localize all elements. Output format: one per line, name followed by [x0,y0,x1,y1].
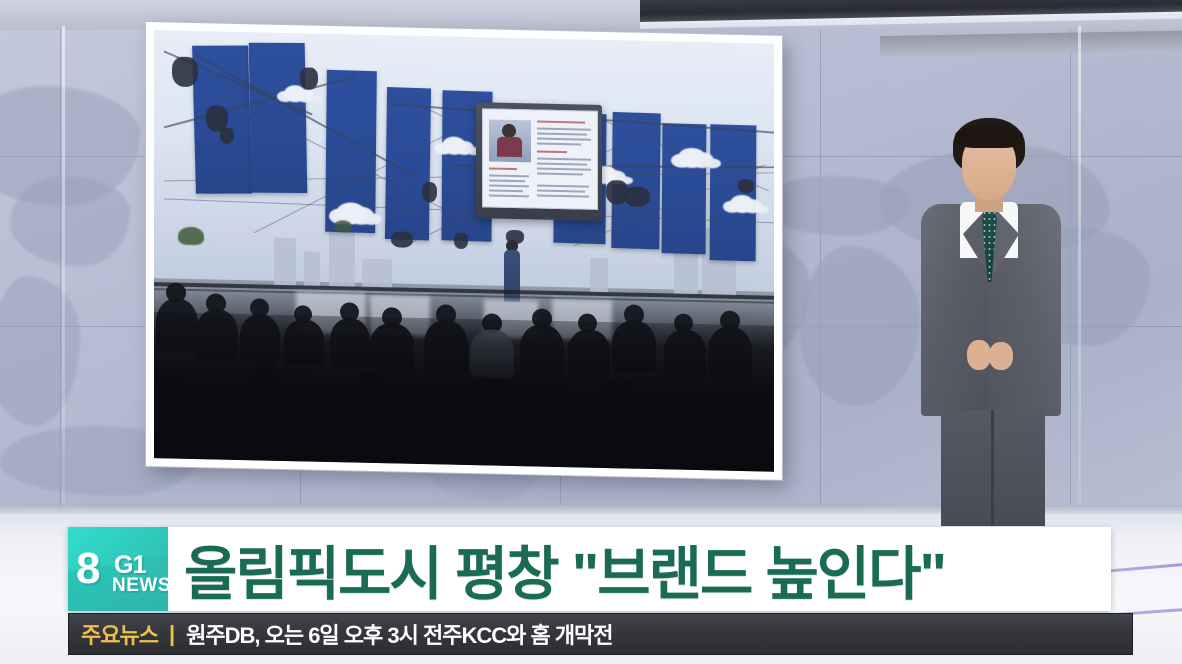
anchor-hand-left [967,340,991,370]
presentation-display [476,102,602,221]
ticker-separator: | [158,621,186,647]
news-anchor [905,118,1075,518]
headline-lower-third: 8 G1 NEWS 올림픽도시 평창 "브랜드 높인다" [68,527,1111,611]
presentation-slide [482,108,598,210]
channel-logo[interactable]: 8 G1 NEWS [68,527,168,611]
logo-number: 8 [76,547,99,591]
wall-column [1078,26,1081,506]
anchor-trouser-seam [991,410,994,526]
broadcast-frame: 8 G1 NEWS 올림픽도시 평창 "브랜드 높인다" 주요뉴스 | 원주DB… [0,0,1182,664]
ticker-headline-text: 원주DB, 오는 6일 오후 3시 전주KCC와 홈 개막전 [186,618,612,650]
ticker-category-label: 주요뉴스 [69,618,158,650]
anchor-hand-right [989,342,1013,370]
anchor-hair-fringe [955,124,1023,148]
slide-photo [489,119,531,162]
audience-foreground [154,313,774,472]
video-wall-content [154,30,774,472]
wall-column [62,26,65,506]
video-wall-screen [146,22,782,480]
news-ticker[interactable]: 주요뉴스 | 원주DB, 오는 6일 오후 3시 전주KCC와 홈 개막전 [68,613,1133,655]
logo-suffix: NEWS [112,576,168,595]
headline-title: 올림픽도시 평창 "브랜드 높인다" [184,527,945,611]
speaker-figure [504,250,520,302]
